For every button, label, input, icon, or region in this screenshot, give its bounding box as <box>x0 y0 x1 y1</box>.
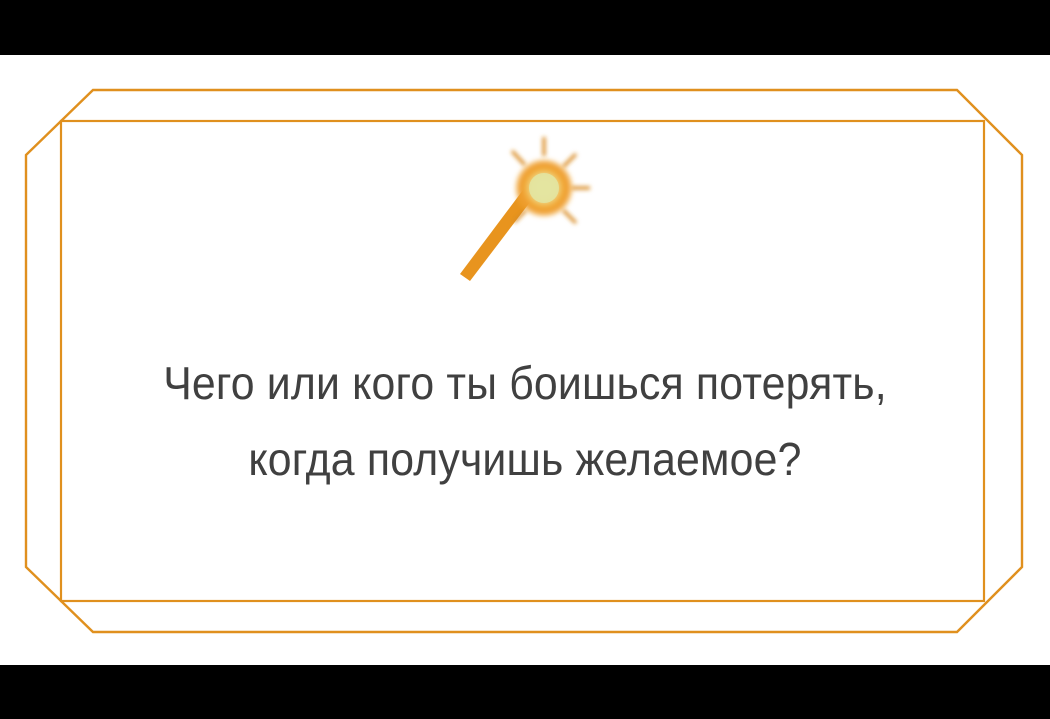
question-line-1: Чего или кого ты боишься потерять, <box>93 345 958 421</box>
question-text-block: Чего или кого ты боишься потерять, когда… <box>60 345 990 497</box>
magic-wand-icon <box>440 132 610 297</box>
question-line-2: когда получишь желаемое? <box>93 421 958 497</box>
letterbox-bar-bottom <box>0 665 1050 719</box>
wand-star-icon <box>514 158 574 218</box>
slide-root: Чего или кого ты боишься потерять, когда… <box>0 0 1050 719</box>
letterbox-bar-top <box>0 0 1050 55</box>
